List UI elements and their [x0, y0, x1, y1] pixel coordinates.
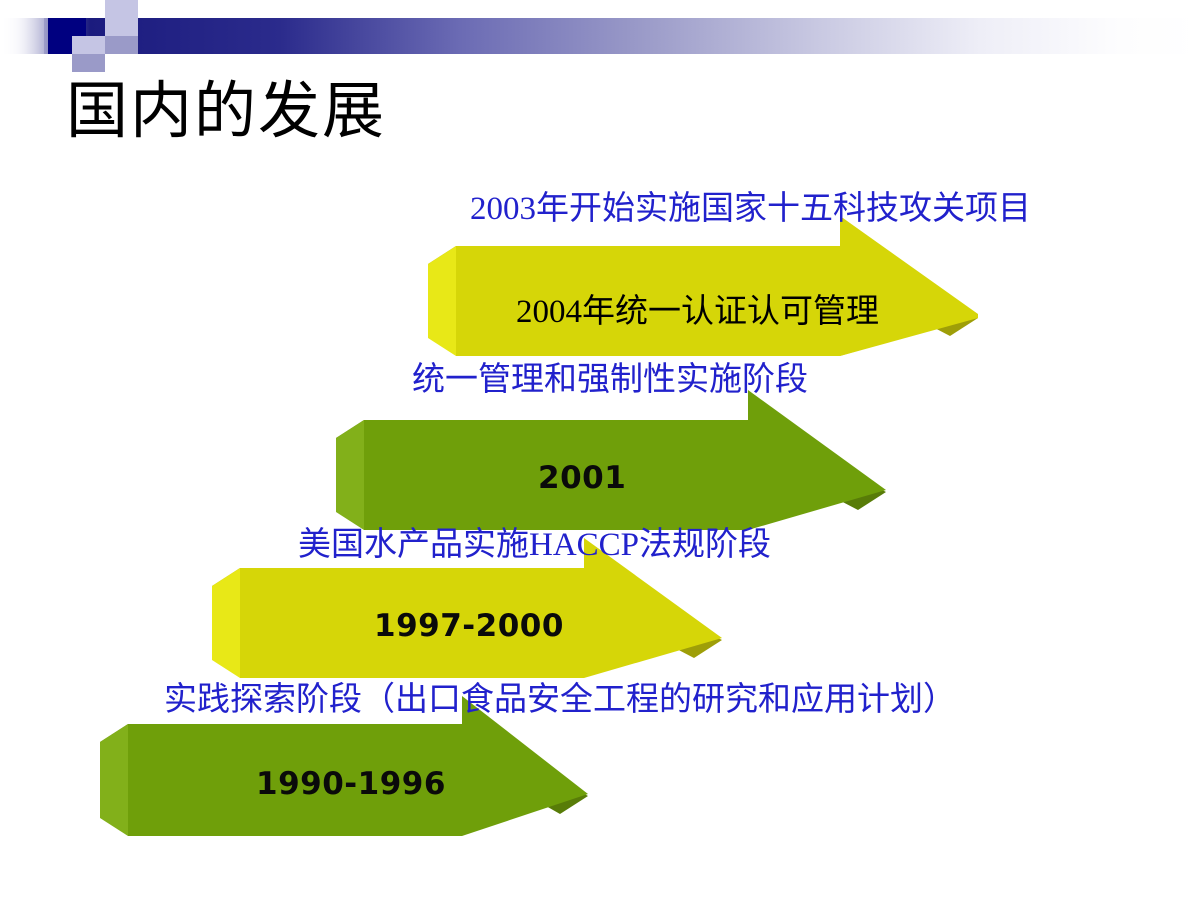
header-decoration [0, 0, 1200, 72]
slide-canvas: 国内的发展 2003年开始实施国家十五科技攻关项目 2004年统一认证认可管理 … [0, 0, 1200, 900]
header-square-light-lower [72, 36, 105, 54]
stage-arrow-label-2: 1997-2000 [374, 608, 564, 644]
page-title: 国内的发展 [66, 78, 386, 143]
stage-caption-2: 美国水产品实施HACCP法规阶段 [298, 529, 771, 562]
stage-arrow-label-4: 2004年统一认证认可管理 [516, 284, 879, 332]
header-square-light-top [105, 0, 138, 18]
stage-arrow-3: 2001 [336, 420, 886, 530]
stage-caption-1: 实践探索阶段（出口食品安全工程的研究和应用计划） [164, 684, 956, 717]
header-left-fade [0, 0, 44, 72]
stage-arrow-4: 2004年统一认证认可管理 [428, 246, 978, 356]
header-square-light-mid [105, 18, 138, 36]
stage-arrow-1: 1990-1996 [100, 724, 590, 836]
stage-caption-4: 2003年开始实施国家十五科技攻关项目 [470, 193, 1031, 226]
stage-arrow-label-3: 2001 [538, 460, 626, 496]
header-square-mid-right [105, 36, 138, 54]
stage-arrow-label-1: 1990-1996 [256, 766, 446, 802]
header-gradient-bar [0, 18, 1200, 54]
header-square-white-gap [68, 0, 105, 18]
stage-caption-3: 统一管理和强制性实施阶段 [412, 364, 808, 397]
header-square-mid-bottom [72, 54, 105, 72]
stage-arrow-2: 1997-2000 [212, 568, 732, 678]
